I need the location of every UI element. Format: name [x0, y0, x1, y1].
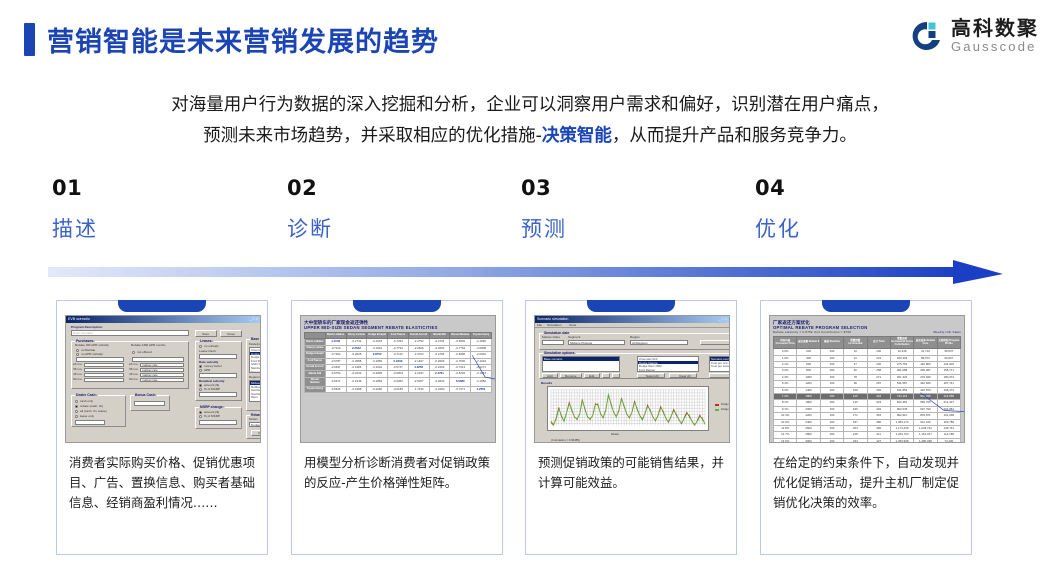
matrix-cell: -0.1660 [367, 386, 388, 392]
matrix-row-header: Toyota Camry [305, 386, 326, 392]
dialog-titlebar: EVB scenario _ □ × [66, 316, 260, 323]
legend-label-actual: Dodge Dakota actual [721, 408, 730, 411]
matrix-cell: -0.6671 [325, 377, 346, 386]
intro-line-1: 对海量用户行为数据的深入挖掘和分析，企业可以洞察用户需求和偏好，识别潜在用户痛点… [50, 90, 1010, 121]
brand-logo: 高科数聚 Gausscode [910, 18, 1039, 55]
matrix-cell: -1.7436 [408, 386, 429, 392]
group-label-bonus-cash: Bonus Cash: [134, 393, 157, 397]
logo-name-cn: 高科数聚 [951, 18, 1039, 39]
combo-term-60-select[interactable]: market rate [140, 378, 184, 383]
opt-col-header: 总计 Total [867, 337, 890, 349]
save-button-label: Save [202, 333, 209, 336]
radio-cash-only[interactable] [75, 400, 78, 403]
intro-line-2: 预测未来市场趋势，并采取相应的优化措施-决策智能，从而提升产品和服务竞争力。 [50, 121, 1010, 152]
combo-term-label-24: 24 mo. [129, 363, 138, 366]
card-tab [118, 300, 206, 312]
opt-col-header: 增量贡献 Incremental Gross Contribution [890, 337, 913, 349]
rebase-model-label: Model [249, 418, 257, 421]
combo-term-60-value: market rate [142, 379, 158, 382]
card-screenshot-optimization-table: 厂家返还方案优化 OPTIMAL REBATE PROGRAM SELECTIO… [769, 315, 965, 443]
sim-clear-all-label: Clear All [679, 375, 691, 378]
program-description-placeholder: Enter scenario [73, 332, 93, 335]
card-caption: 用模型分析诊断消费者对促销政策的反应-产生价格弹性矩阵。 [304, 453, 490, 493]
intro-line-2-suffix: ，从而提升产品和服务竞争力。 [612, 126, 857, 146]
dealer-cash-amount-select[interactable] [75, 420, 105, 425]
step-label: 诊断 [287, 213, 507, 243]
term-label-24: 24 mo. [73, 363, 82, 366]
sim-models-item[interactable]: Ford Ranger [638, 368, 698, 372]
card-optimize[interactable]: 厂家返还方案优化 OPTIMAL REBATE PROGRAM SELECTIO… [760, 300, 972, 555]
opt-col-header: 增量销量 Incremental [844, 337, 867, 349]
matrix-cell: -0.2149 [346, 377, 367, 386]
remove-button[interactable]: Remove [560, 373, 582, 378]
card-screenshot-win32-dialog: EVB scenario _ □ × Program Description: … [65, 315, 261, 443]
segment-value: Midsize Pickups [570, 342, 592, 345]
combo-term-label-48: 48 mo. [129, 373, 138, 376]
move-down-button[interactable] [612, 373, 620, 378]
radio-rebate-cash-fin[interactable] [75, 405, 78, 408]
menu-file[interactable]: File [537, 324, 542, 327]
combo-term-48-select[interactable]: market rate [140, 373, 184, 378]
optimization-subline: Rebate elasticity = 0.8752 Unit Contribu… [773, 330, 961, 334]
card-caption: 在给定的约束条件下，自动发现并优化促销活动，提升主机厂制定促销优化决策的效率。 [773, 453, 959, 513]
opt-cell: 427 [867, 438, 890, 443]
intro-line-2-prefix: 预测未来市场趋势，并采取相应的优化措施- [203, 126, 542, 146]
results-chart [547, 386, 709, 431]
matrix-cell: -2.1982 [471, 377, 492, 386]
move-up-button[interactable] [602, 373, 610, 378]
opt-col-header: 方案利润 Program Profits [937, 337, 960, 349]
elasticity-title-en: UPPER MID-SIZE SEDAN SEGMENT REBATE ELAS… [304, 325, 492, 330]
sim-info-listbox[interactable]: Scenario economics of the forecast evalu… [709, 356, 730, 372]
sim-title: Scenario simulation [537, 317, 568, 322]
sim-clear-all-button[interactable]: Clear All [669, 373, 697, 378]
radio-all-cash-fin-lease[interactable] [75, 410, 78, 413]
menu-tools[interactable]: Tools [569, 324, 576, 327]
rate-subsidy-input[interactable] [199, 373, 237, 378]
term-24-input[interactable] [84, 363, 124, 368]
radio-not-offered[interactable] [132, 351, 135, 354]
card-list: EVB scenario _ □ × Program Description: … [0, 300, 1051, 560]
label-market-share: Market share [542, 336, 560, 339]
sim-window-controls: _ □ × [719, 317, 727, 322]
opt-cell: 13.6% [774, 438, 797, 443]
radio-apr[interactable] [199, 369, 202, 372]
step-number: 02 [287, 176, 507, 200]
step-label: 优化 [755, 213, 975, 243]
card-tab [587, 300, 675, 312]
group-label-leases: Leases: [199, 339, 214, 343]
matrix-cell: -0.1869 [367, 377, 388, 386]
matrix-cell: -2.5207 [408, 377, 429, 386]
radio-no-apr[interactable] [76, 353, 79, 356]
term-36-input[interactable] [84, 368, 124, 373]
optimization-matrix: 实际价格 Consumer Price返还金额 Rebate $基准 Basel… [773, 336, 961, 443]
slide-header: 营销智能是未来营销发展的趋势 高科数聚 Gausscode [0, 0, 1051, 78]
radio-no-lease-subsidy[interactable] [199, 345, 202, 348]
lease-opt-1: no subsidy [204, 345, 219, 348]
combo-amount-select[interactable] [132, 357, 184, 362]
intro-paragraph: 对海量用户行为数据的深入挖掘和分析，企业可以洞察用户需求和偏好，识别潜在用户痛点… [50, 90, 1010, 152]
title-accent-bar [24, 23, 35, 56]
card-screenshot-elasticity-table: 大中型轿车的厂家现金返还弹性 UPPER MID-SIZE SEDAN SEGM… [300, 315, 496, 443]
dialog-title: EVB scenario [68, 317, 90, 322]
optimization-subline-right: Weekly Unit Sales [933, 330, 961, 334]
group-label-program: Program Description: [71, 326, 103, 329]
opt-cell: 3000 [797, 438, 820, 443]
radio-residual-amount[interactable] [199, 384, 202, 387]
edit-button[interactable]: Edit [584, 373, 600, 378]
term-label-60: 60 mo. [73, 378, 82, 381]
radio-residual-pct[interactable] [199, 388, 202, 391]
term-label-36: 36 mo. [73, 368, 82, 371]
legend-swatch-actual [715, 409, 719, 411]
legend-swatch-est [715, 404, 719, 406]
radio-msrp-amount[interactable] [199, 411, 202, 414]
purchase-left-title: Rebate OR APR subsidy [75, 344, 109, 347]
add-button[interactable]: Add [542, 373, 558, 378]
market-share-select[interactable] [542, 340, 564, 345]
lease-cash-label: Lease Cash: [199, 350, 216, 353]
matrix-cell: -0.2830 [429, 377, 450, 386]
sim-select-all-button[interactable]: Select All [637, 373, 665, 378]
opt-cell: 234 [844, 438, 867, 443]
purchase-amount-select[interactable] [76, 357, 124, 362]
dealer-cash-opt-4: lease only [80, 415, 94, 418]
scenario-listbox-item[interactable]: Base scenario [543, 357, 619, 361]
matrix-cell: -0.2280 [429, 386, 450, 392]
step-item-2: 02 诊断 [287, 176, 507, 243]
scenario-listbox[interactable]: Base scenario [542, 356, 620, 372]
program-description-input[interactable]: Enter scenario [71, 330, 189, 336]
edit-button-label: Edit [589, 375, 594, 378]
group-label-dealer-cash: Dealer Cash: [75, 393, 98, 397]
optimization-subline-left: Rebate elasticity = 0.8752 Unit Contribu… [773, 330, 851, 334]
combo-term-24-select[interactable]: market rate [140, 363, 184, 368]
chart-footnote: (Correlation = 0.96385) [551, 439, 580, 442]
results-label: Results [541, 382, 552, 385]
card-tab [822, 300, 910, 312]
save-button[interactable]: Save [195, 330, 217, 337]
radio-no-rebate[interactable] [76, 349, 79, 352]
models-listbox[interactable]: Chevrolet 1500 Dodge Dakota Dodge Ram 15… [249, 347, 261, 373]
opt-cell: 1,280,038 [914, 438, 937, 443]
opt-col-header: 基准 Baseline [820, 337, 843, 349]
card-tab [353, 300, 441, 312]
step-label: 描述 [52, 213, 272, 243]
legend-label-est: Dodge Dakota est. [721, 403, 730, 406]
group-label-simulation-options: Simulation options [543, 351, 576, 355]
msrp-opt-2: % of MSRP [204, 415, 220, 418]
opt-cell: 1,353,968 [890, 438, 913, 443]
dealer-cash-opt-2: rebate (cash, fin) [80, 405, 103, 408]
graph-button[interactable]: Graph [709, 373, 730, 378]
rebase-model-select[interactable]: Dodge Dakota [249, 422, 261, 427]
opt-cell: 190 [820, 438, 843, 443]
regions-listbox[interactable]: Midwest Northeast Southeast Southwest We… [249, 380, 261, 402]
dialog-window-controls: _ □ × [250, 317, 258, 322]
table-row: Toyota Camry-0.5645-0.1988-0.1660-0.6189… [305, 386, 492, 392]
lease-cash-input[interactable] [199, 354, 237, 359]
segment-select[interactable]: Midsize Pickups [568, 340, 625, 345]
radio-lease-only[interactable] [75, 415, 78, 418]
radio-money-factor[interactable] [199, 365, 202, 368]
sim-titlebar: Scenario simulation _ □ × [535, 316, 729, 323]
step-label: 预测 [521, 213, 741, 243]
combo-term-label-60: 60 mo. [129, 378, 138, 381]
close-button-label: Close [227, 333, 235, 336]
matrix-cell: -0.1988 [346, 386, 367, 392]
sim-menubar[interactable]: File Simulation Tools [535, 323, 729, 328]
sim-select-all-label: Select All [646, 375, 659, 378]
close-button[interactable]: Close [220, 330, 242, 337]
combo-term-label-36: 36 mo. [129, 368, 138, 371]
matrix-row-header: Nissan Maxima [305, 377, 326, 386]
group-label-msrp: MSRP change: [199, 405, 225, 409]
term-60-input[interactable] [84, 378, 124, 383]
label-region: Region [630, 336, 640, 339]
matrix-cell: -0.6189 [388, 386, 409, 392]
term-label-48: 48 mo. [73, 373, 82, 376]
title-text: 营销智能是未来营销发展的趋势 [47, 20, 439, 59]
sim-save-button[interactable] [700, 340, 730, 345]
bonus-cash-input[interactable] [134, 401, 165, 406]
purchase-right-title: Rebate AND APR combo [131, 344, 165, 347]
remove-button-label: Remove [565, 375, 577, 378]
dealer-cash-opt-3: all (cash, fin, lease) [80, 410, 107, 413]
card-describe[interactable]: EVB scenario _ □ × Program Description: … [56, 300, 268, 555]
progress-arrow-icon [48, 258, 1008, 290]
sim-info-item[interactable]: Cost per incremental unit [710, 364, 730, 368]
residual-input[interactable] [199, 392, 237, 397]
opt-cell: 73,430 [937, 438, 960, 443]
table-row: 13.6%30001902344271,353,9681,280,03873,4… [774, 438, 961, 443]
opt-col-header: 实际价格 Consumer Price [774, 337, 797, 349]
step-item-3: 03 预测 [521, 176, 741, 243]
region-value: All Regions [632, 342, 648, 345]
page-title: 营销智能是未来营销发展的趋势 [24, 20, 439, 59]
residual-opt-2: % of MSRP [204, 388, 220, 391]
dealer-cash-opt-1: cash only [80, 400, 93, 403]
rebase-clear-button[interactable]: Clear [251, 430, 261, 436]
group-label-base-incentives: Base incentives [250, 337, 261, 341]
sim-models-listbox[interactable]: Chevrolet S10 Dodge Dakota Dodge Ram 150… [637, 356, 699, 372]
rate-subsidy-opt-2: APR [204, 369, 210, 372]
table-row: Nissan Maxima-0.6671-0.2149-0.1869-0.635… [305, 377, 492, 386]
rebase-model-value: Dodge Dakota [251, 424, 261, 427]
combo-term-36-select[interactable]: market rate [140, 368, 184, 373]
radio-label-b: no APR subsidy [81, 353, 103, 356]
term-48-input[interactable] [84, 373, 124, 378]
matrix-cell: -0.6352 [388, 377, 409, 386]
step-number: 01 [52, 176, 272, 200]
chart-xlabel: Weeks [611, 433, 619, 436]
radio-msrp-pct[interactable] [199, 415, 202, 418]
card-diagnose[interactable]: 大中型轿车的厂家现金返还弹性 UPPER MID-SIZE SEDAN SEGM… [291, 300, 503, 555]
rebase-clear-label: Clear [258, 432, 261, 435]
step-number: 03 [521, 176, 741, 200]
models-label: Model(s): [249, 343, 261, 346]
logo-text: 高科数聚 Gausscode [951, 18, 1039, 55]
opt-col-header: 返还金额 Rebate $ [797, 337, 820, 349]
opt-col-header: 返还成本 Rebate Cost [914, 337, 937, 349]
matrix-cell: 5.6080 [450, 377, 471, 386]
step-list: 01 描述 02 诊断 03 预测 04 优化 [0, 176, 1051, 248]
menu-simulation[interactable]: Simulation [547, 324, 561, 327]
card-screenshot-simulation-window: Scenario simulation _ □ × File Simulatio… [534, 315, 730, 443]
logo-mark-icon [910, 19, 944, 53]
step-number: 04 [755, 176, 975, 200]
matrix-cell: -0.5645 [325, 386, 346, 392]
step-item-4: 04 优化 [755, 176, 975, 243]
card-predict[interactable]: Scenario simulation _ □ × File Simulatio… [525, 300, 737, 555]
regions-listbox-item[interactable]: West [250, 395, 261, 399]
matrix-cell: 4.2561 [471, 386, 492, 392]
step-item-1: 01 描述 [52, 176, 272, 243]
msrp-input[interactable] [199, 420, 237, 425]
add-button-label: Add [547, 375, 553, 378]
intro-highlight: 决策智能 [542, 126, 612, 146]
label-segment: Segment [568, 336, 580, 339]
models-listbox-item[interactable]: Nissan Frontier [250, 370, 261, 373]
region-select[interactable]: All Regions [630, 340, 688, 345]
regions-label: Region(s): [249, 376, 261, 379]
card-caption: 预测促销政策的可能销售结果，并计算可能效益。 [538, 453, 724, 493]
matrix-cell: -0.7371 [450, 386, 471, 392]
elasticity-matrix: Buick LeSabreChevy LuminaDodge IntrepidF… [304, 332, 492, 393]
radio-label-c: not offered [137, 351, 152, 354]
logo-name-en: Gausscode [951, 39, 1039, 55]
slide-root: 营销智能是未来营销发展的趋势 高科数聚 Gausscode 对海量用户行为数据的… [0, 0, 1051, 586]
card-caption: 消费者实际购买价格、促销优惠项目、广告、置换信息、购买者基础信息、经销商盈利情况… [69, 453, 255, 513]
